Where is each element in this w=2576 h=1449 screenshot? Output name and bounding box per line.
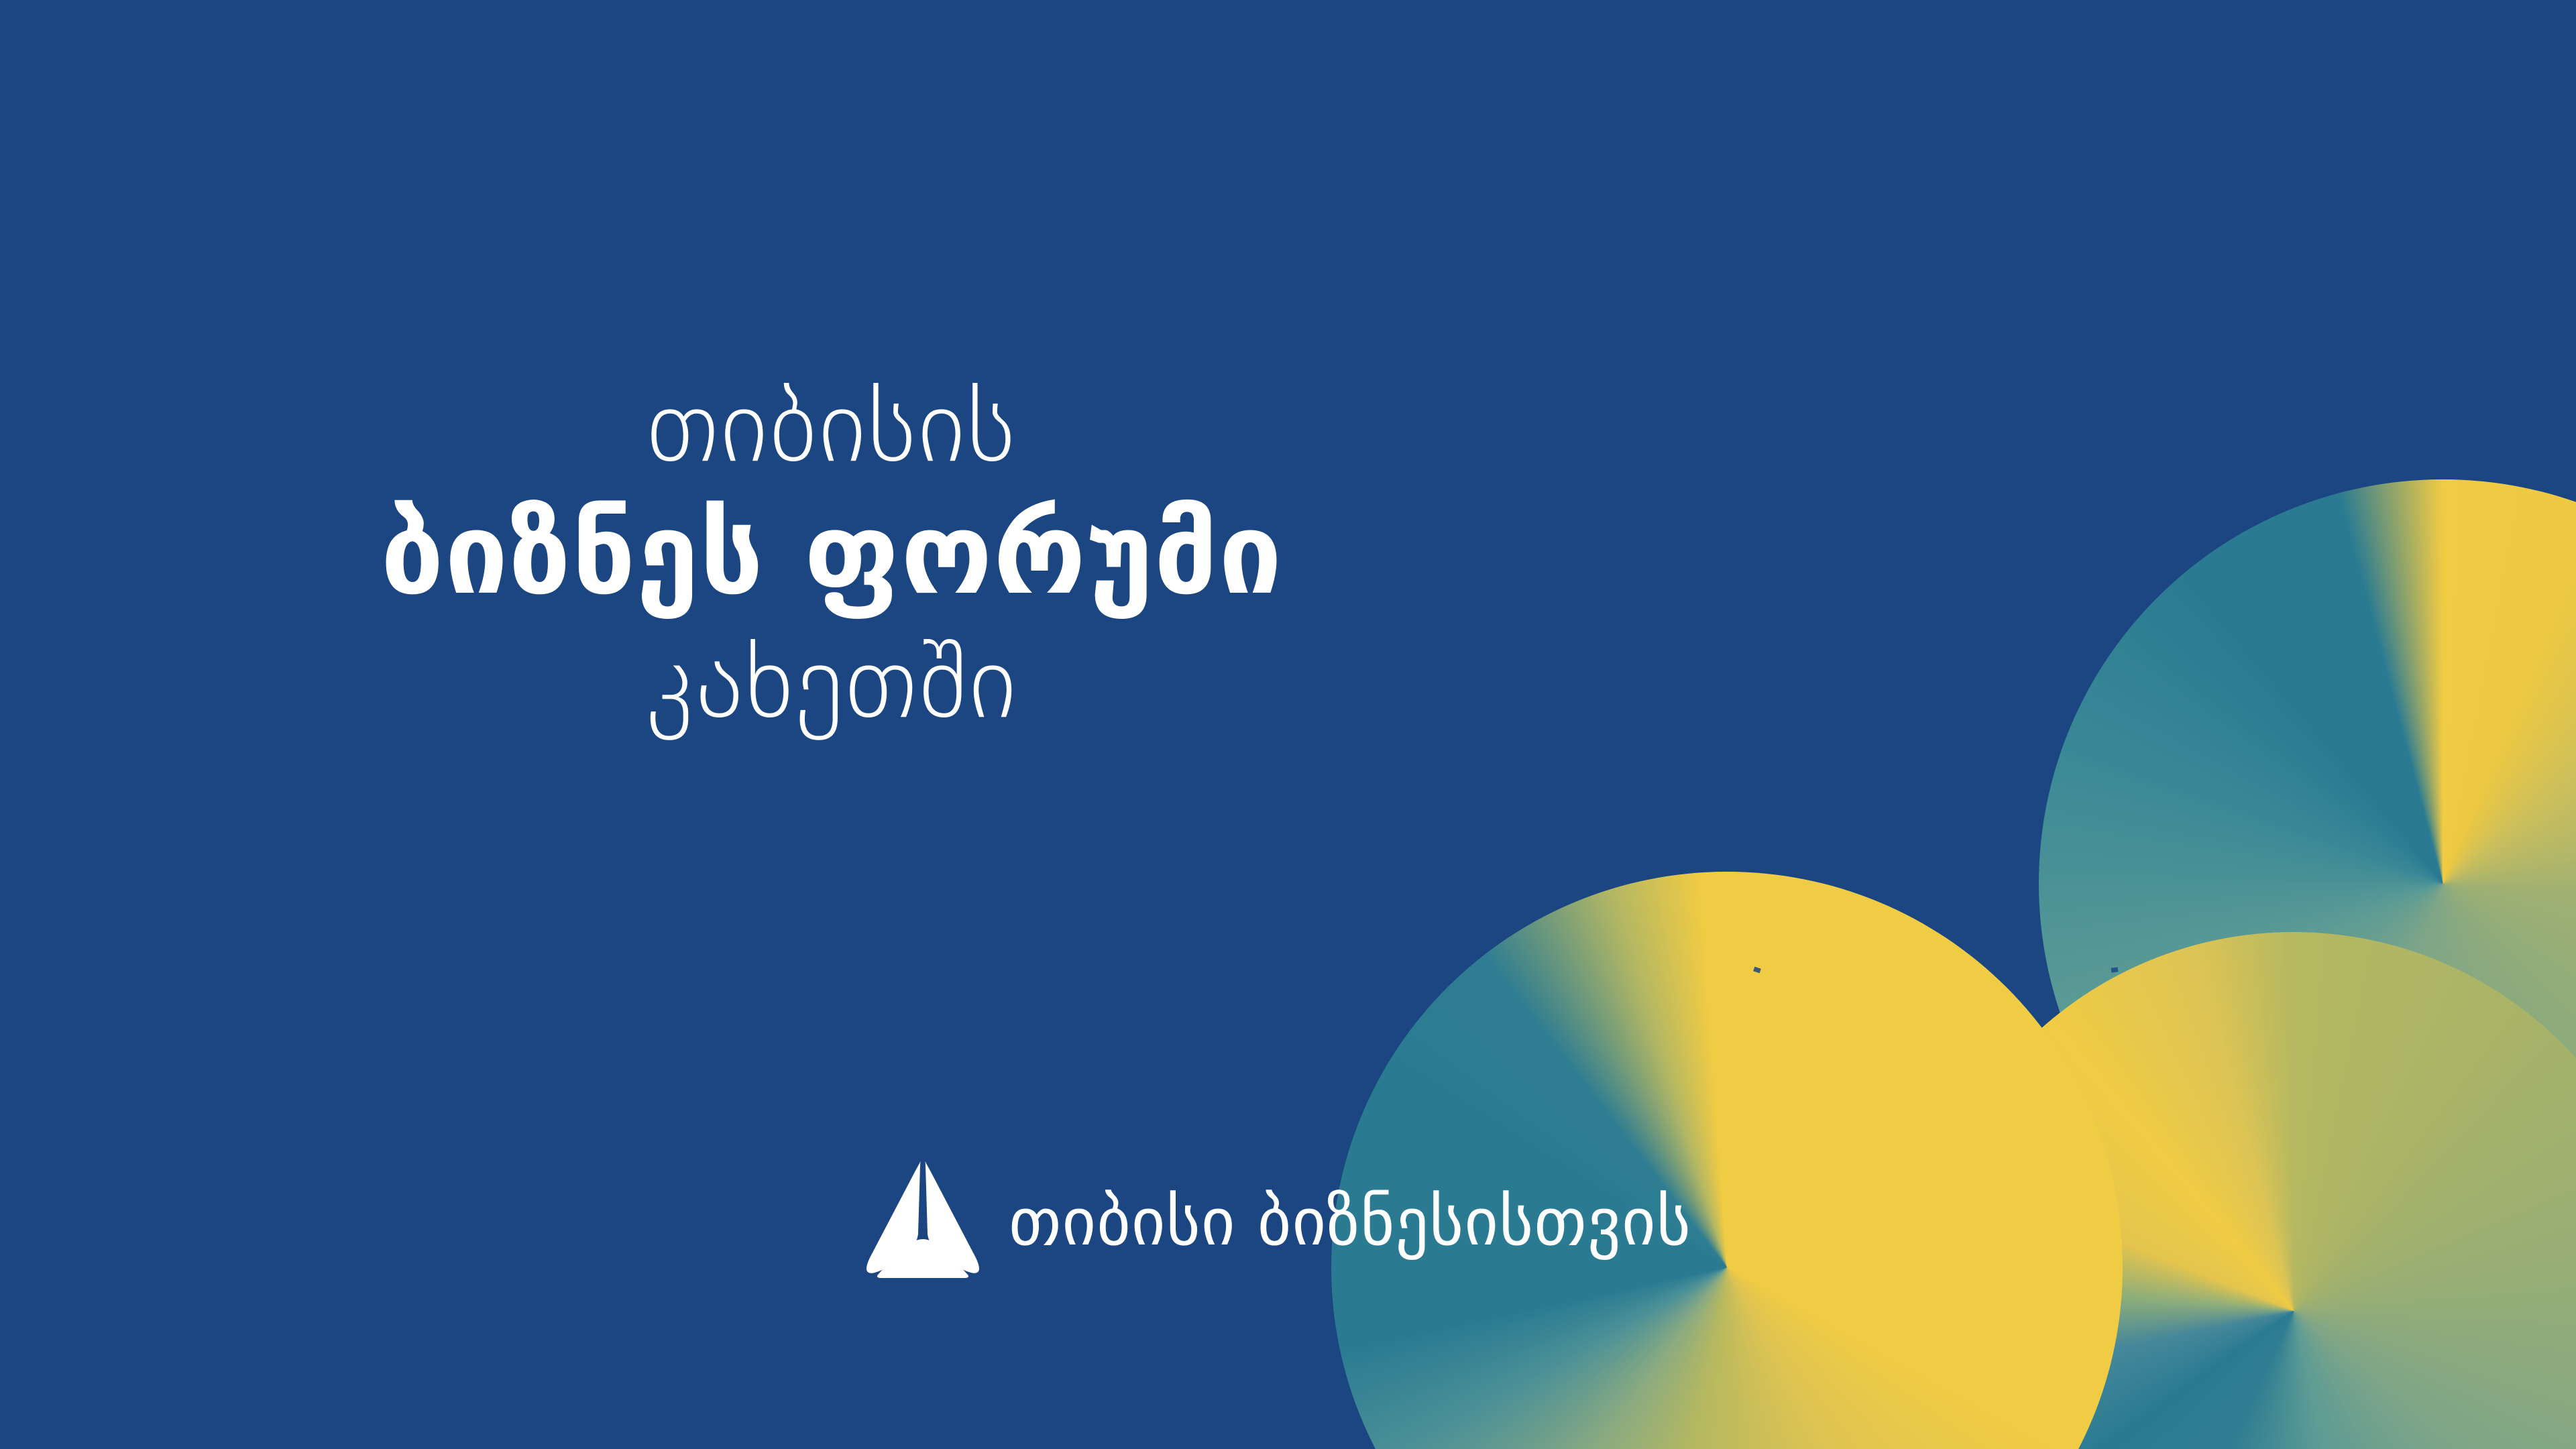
logo-wordmark: თიბისი ბიზნესისთვის [1009, 1190, 1691, 1255]
headline-line-2: ბიზნეს ფორუმი [0, 498, 1663, 610]
headline-line-3: კახეთში [0, 632, 1663, 734]
headline-line-1: თიბისის [0, 375, 1663, 477]
tbc-triangle-logo-icon [865, 1159, 981, 1278]
event-banner: თიბისის ბიზნეს ფორუმი კახეთში თიბისი ბიზ… [0, 0, 2576, 1449]
gradient-center-speck-right [2111, 967, 2119, 972]
logo-lockup: თიბისი ბიზნესისთვის [865, 1159, 1691, 1278]
page-title: თიბისის ბიზნეს ფორუმი კახეთში [0, 375, 1663, 734]
gradient-center-speck-left [1753, 967, 1761, 974]
decorative-circle-lower-right [1915, 932, 2576, 1449]
decorative-circle-upper-right [2039, 479, 2576, 1287]
